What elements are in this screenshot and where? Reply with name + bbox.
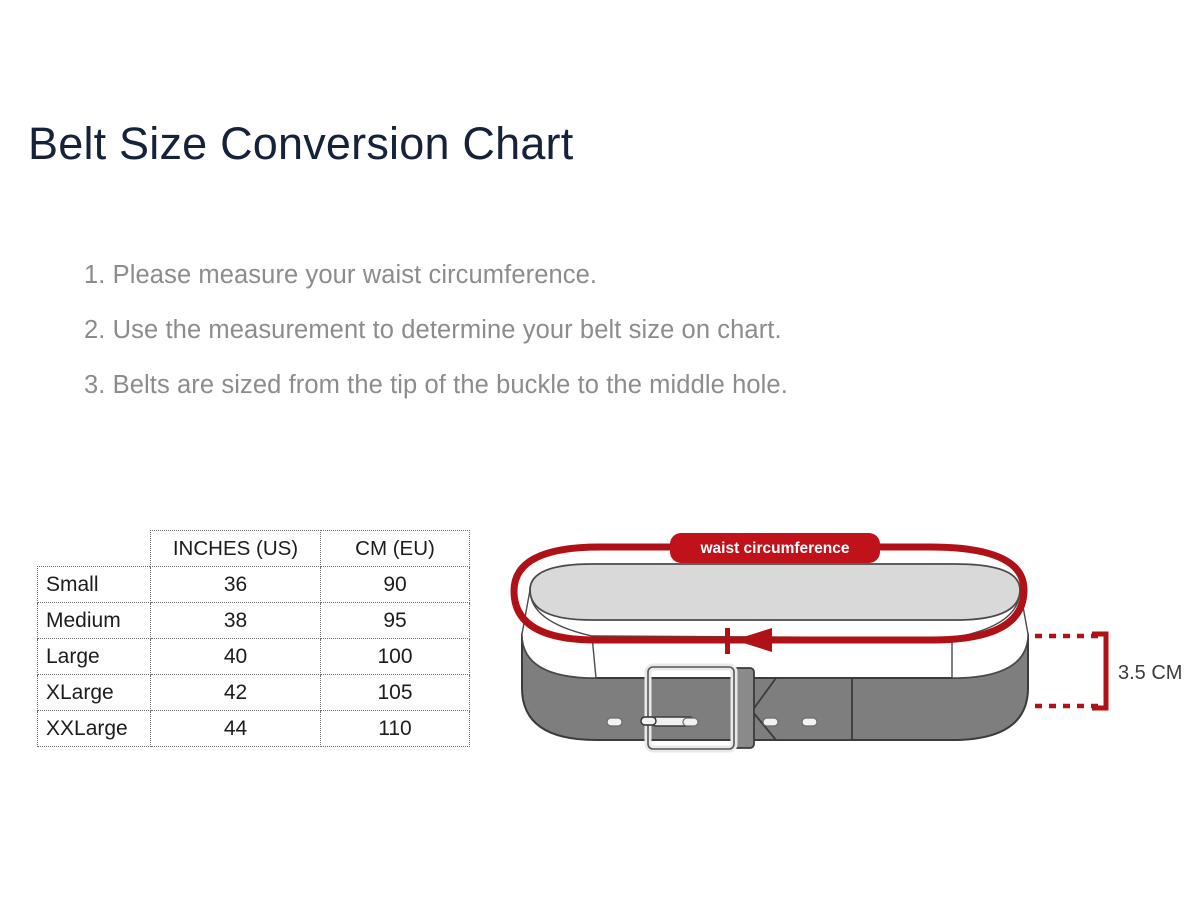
cell-inches: 40 (151, 639, 321, 675)
cell-size: XLarge (38, 675, 151, 711)
table-row: XXLarge 44 110 (38, 711, 470, 747)
instruction-item-1: 1. Please measure your waist circumferen… (84, 248, 1064, 303)
belt-top-face (522, 564, 1028, 678)
cell-inches: 36 (151, 567, 321, 603)
cell-size: Large (38, 639, 151, 675)
cell-size: Small (38, 567, 151, 603)
column-header-size (38, 531, 151, 567)
table-row: Medium 38 95 (38, 603, 470, 639)
size-conversion-table: INCHES (US) CM (EU) Small 36 90 Medium 3… (37, 530, 470, 747)
waist-circumference-badge: waist circumference (670, 533, 880, 563)
cell-inches: 38 (151, 603, 321, 639)
belt-width-dimension: 3.5 CM (1035, 634, 1182, 708)
table-row: Large 40 100 (38, 639, 470, 675)
size-table-container: INCHES (US) CM (EU) Small 36 90 Medium 3… (37, 530, 469, 747)
table-row: Small 36 90 (38, 567, 470, 603)
page-title: Belt Size Conversion Chart (28, 118, 573, 170)
instruction-item-2: 2. Use the measurement to determine your… (84, 303, 1064, 358)
cell-size: XXLarge (38, 711, 151, 747)
cell-cm: 105 (321, 675, 470, 711)
column-header-inches: INCHES (US) (151, 531, 321, 567)
cell-cm: 110 (321, 711, 470, 747)
badge-label: waist circumference (699, 540, 849, 557)
instruction-item-3: 3. Belts are sized from the tip of the b… (84, 358, 1064, 413)
instructions-list: 1. Please measure your waist circumferen… (84, 248, 1064, 413)
cell-inches: 44 (151, 711, 321, 747)
table-header-row: INCHES (US) CM (EU) (38, 531, 470, 567)
belt-diagram: waist circumference 3.5 CM (500, 528, 1190, 763)
cell-cm: 100 (321, 639, 470, 675)
table-row: XLarge 42 105 (38, 675, 470, 711)
cell-cm: 90 (321, 567, 470, 603)
cell-size: Medium (38, 603, 151, 639)
dimension-label: 3.5 CM (1118, 662, 1182, 684)
cell-cm: 95 (321, 603, 470, 639)
column-header-cm: CM (EU) (321, 531, 470, 567)
cell-inches: 42 (151, 675, 321, 711)
